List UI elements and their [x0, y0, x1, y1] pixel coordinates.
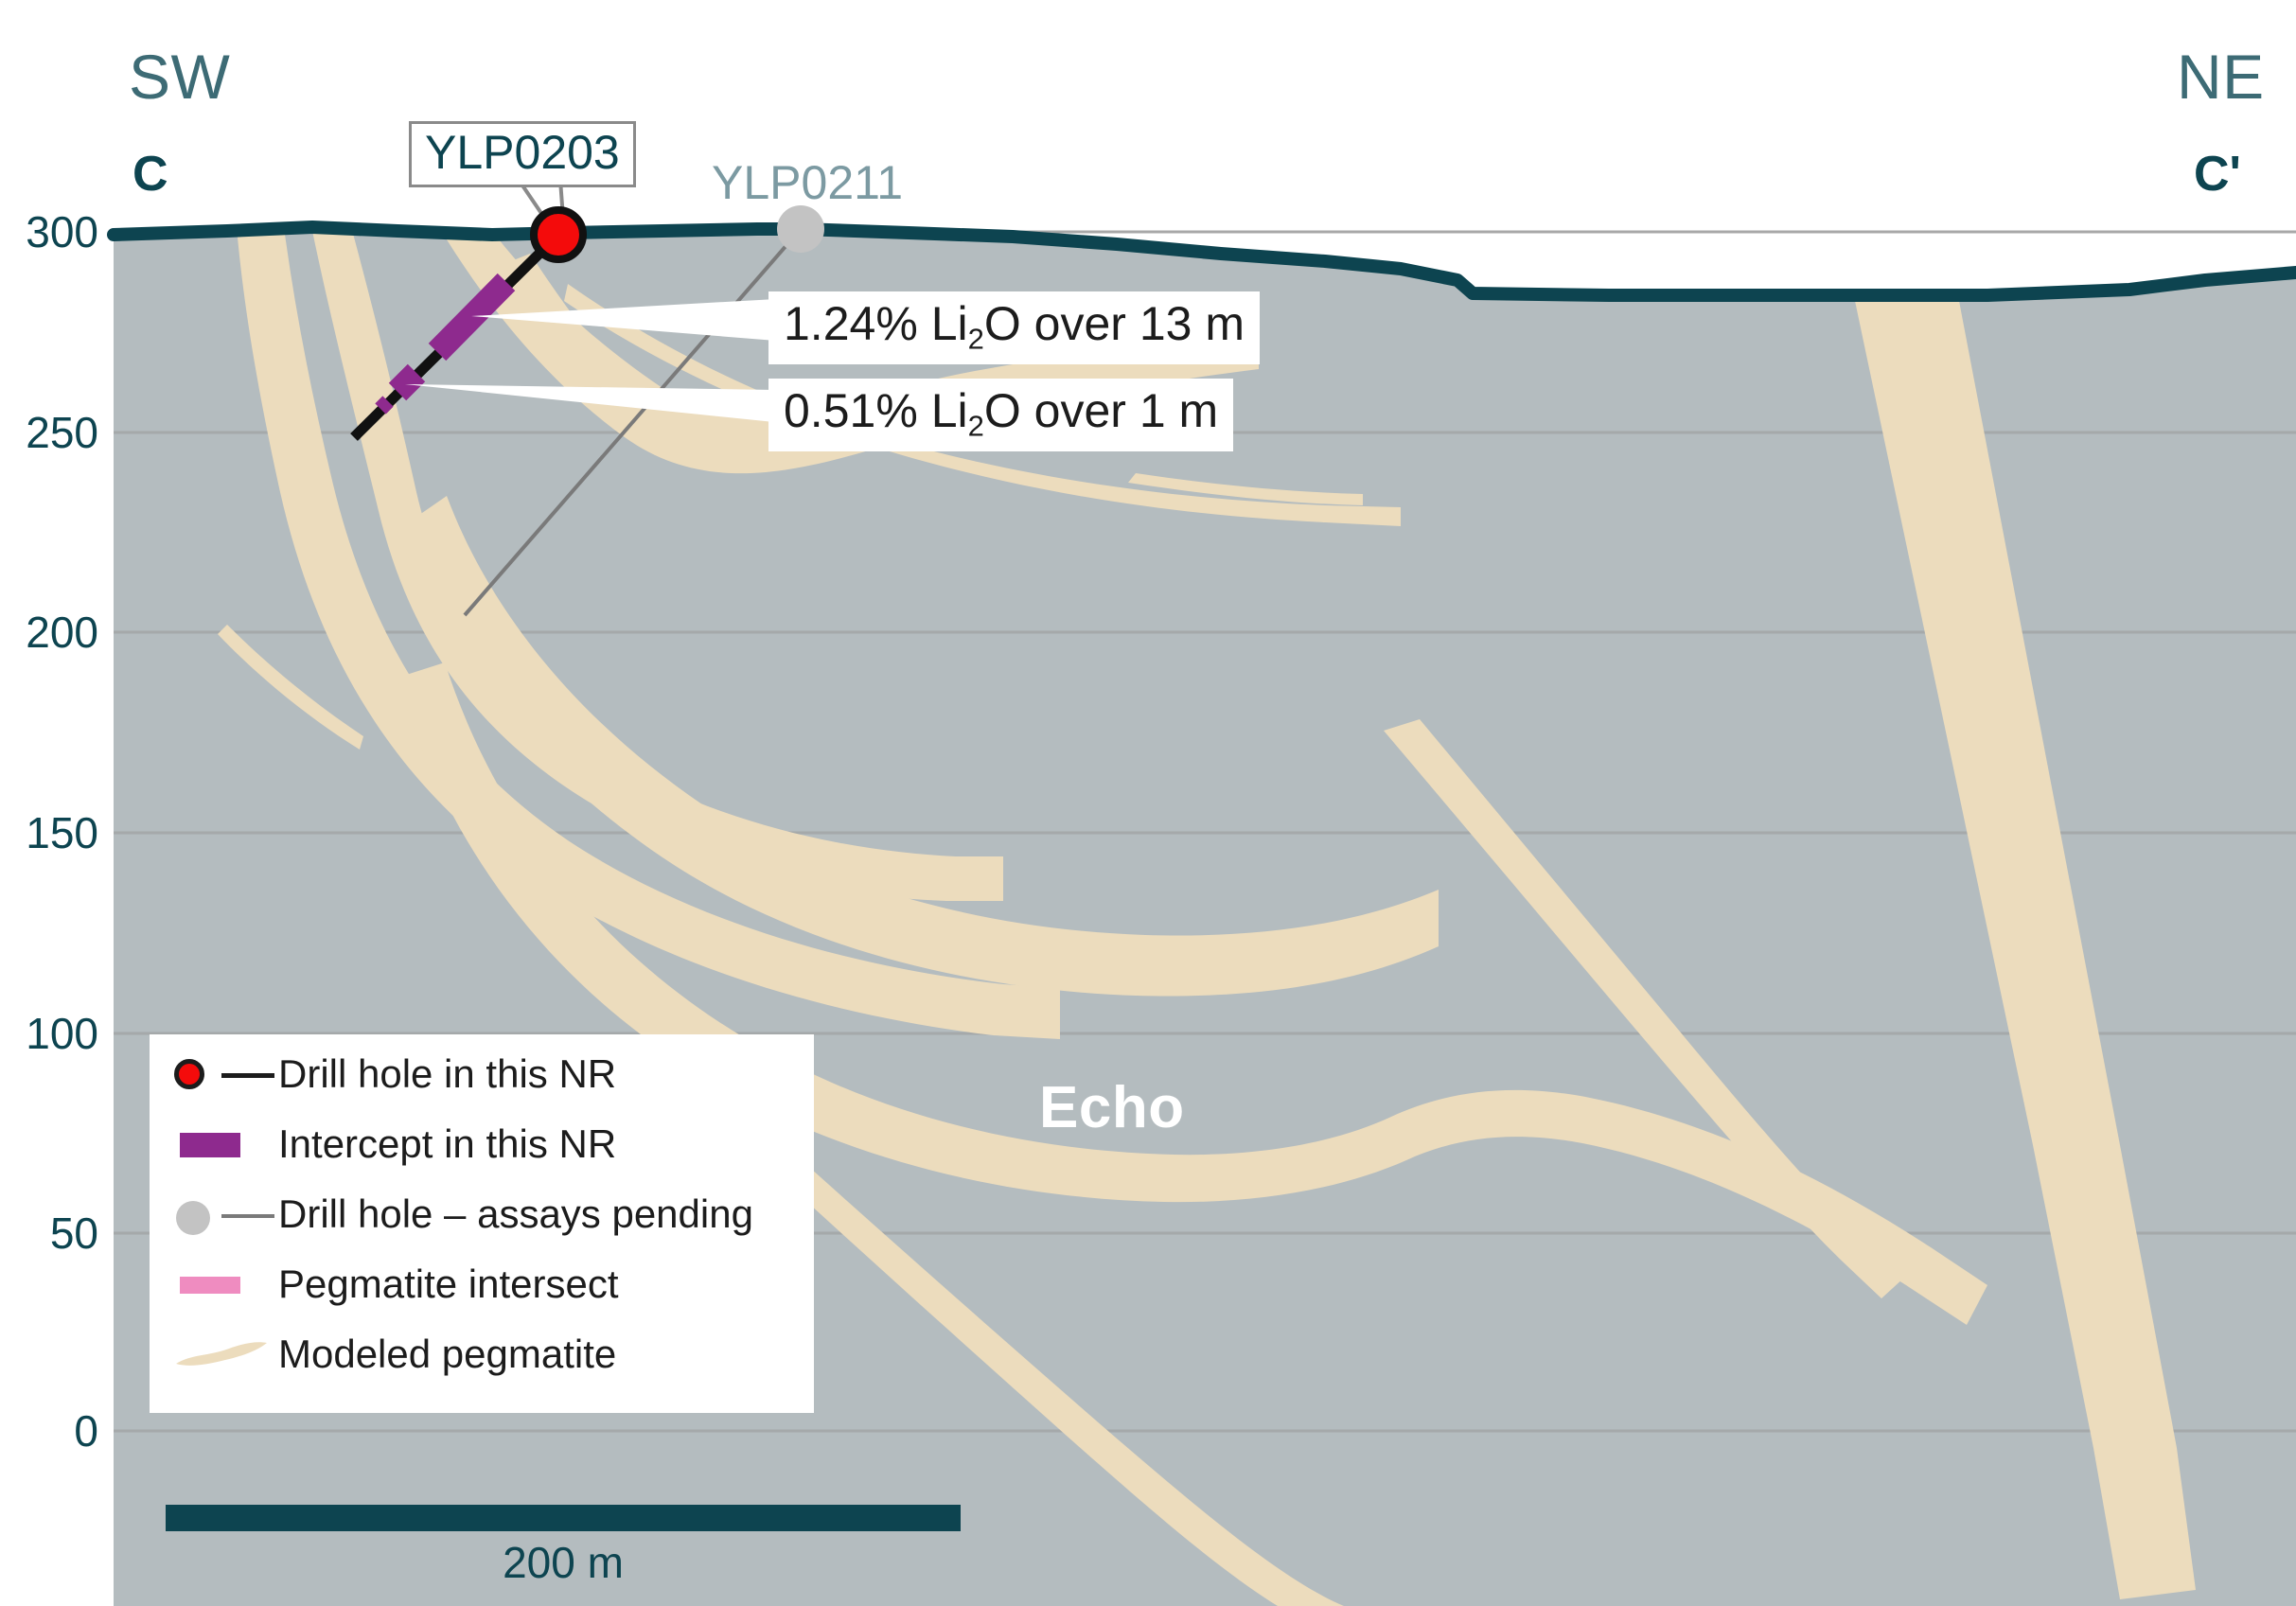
assay-1-length: 13 m [1139, 297, 1245, 350]
pink-pegmatite-intersect-icon [170, 1265, 273, 1303]
assay-2-length: 1 m [1139, 384, 1218, 437]
assay-1-oxide-sub: 2 [968, 322, 984, 355]
assay-callout-1: 1.24% Li2O over 13 m [768, 291, 1260, 364]
legend-item-intercept-nr: Intercept in this NR [170, 1125, 616, 1163]
assay-2-grade: 0.51% [784, 384, 918, 437]
y-tick-250: 250 [26, 407, 98, 458]
intercept-bar-2 [397, 373, 416, 392]
legend-label-0: Drill hole in this NR [278, 1054, 616, 1094]
legend-label-1: Intercept in this NR [278, 1124, 616, 1164]
y-tick-200: 200 [26, 607, 98, 658]
section-id-left: C [132, 150, 168, 199]
section-id-right: C' [2194, 150, 2241, 199]
assay-callout-2: 0.51% Li2O over 1 m [768, 379, 1233, 451]
assay-2-oxide-pre: Li [931, 384, 968, 437]
y-tick-300: 300 [26, 206, 98, 257]
assay-1-oxide-post: O [984, 297, 1021, 350]
scale-bar [166, 1505, 961, 1531]
assay-1-over: over [1034, 297, 1126, 350]
assay-2-over: over [1034, 384, 1126, 437]
legend-label-2: Drill hole – assays pending [278, 1194, 753, 1234]
legend-item-drill-hole-nr: Drill hole in this NR [170, 1055, 616, 1093]
cross-section-figure: 300 250 200 150 100 50 0 SW C NE C' YLP0… [0, 0, 2296, 1606]
legend-label-4: Modeled pegmatite [278, 1334, 616, 1374]
assay-2-oxide-sub: 2 [968, 409, 984, 442]
legend-item-modeled-pegmatite: Modeled pegmatite [170, 1335, 616, 1373]
y-tick-100: 100 [26, 1008, 98, 1059]
legend-item-assays-pending: Drill hole – assays pending [170, 1195, 753, 1233]
assay-2-oxide-post: O [984, 384, 1021, 437]
deposit-name-label: Echo [1039, 1079, 1185, 1138]
y-axis: 300 250 200 150 100 50 0 [0, 0, 98, 1606]
orientation-label-ne: NE [2177, 45, 2265, 108]
y-tick-150: 150 [26, 807, 98, 858]
orientation-label-sw: SW [129, 45, 230, 108]
collar-ylp0203[interactable] [534, 210, 583, 259]
pegmatite-intersect-tick [380, 401, 388, 409]
drill-hole-label-ylp0211[interactable]: YLP0211 [712, 159, 903, 206]
assay-1-oxide-pre: Li [931, 297, 968, 350]
tan-pegmatite-lens-icon [170, 1335, 273, 1373]
purple-intercept-icon [170, 1125, 273, 1163]
collar-ylp0211[interactable] [777, 205, 824, 253]
legend: Drill hole in this NR Intercept in this … [150, 1034, 814, 1413]
drill-hole-label-ylp0203[interactable]: YLP0203 [409, 121, 636, 187]
legend-item-pegmatite-intersect: Pegmatite intersect [170, 1265, 619, 1303]
y-tick-0: 0 [74, 1405, 98, 1456]
y-tick-50: 50 [50, 1208, 98, 1259]
assay-1-grade: 1.24% [784, 297, 918, 350]
red-drill-hole-icon [170, 1055, 273, 1093]
legend-label-3: Pegmatite intersect [278, 1264, 619, 1304]
scale-bar-label: 200 m [166, 1541, 961, 1584]
grey-drill-hole-icon [170, 1195, 273, 1233]
